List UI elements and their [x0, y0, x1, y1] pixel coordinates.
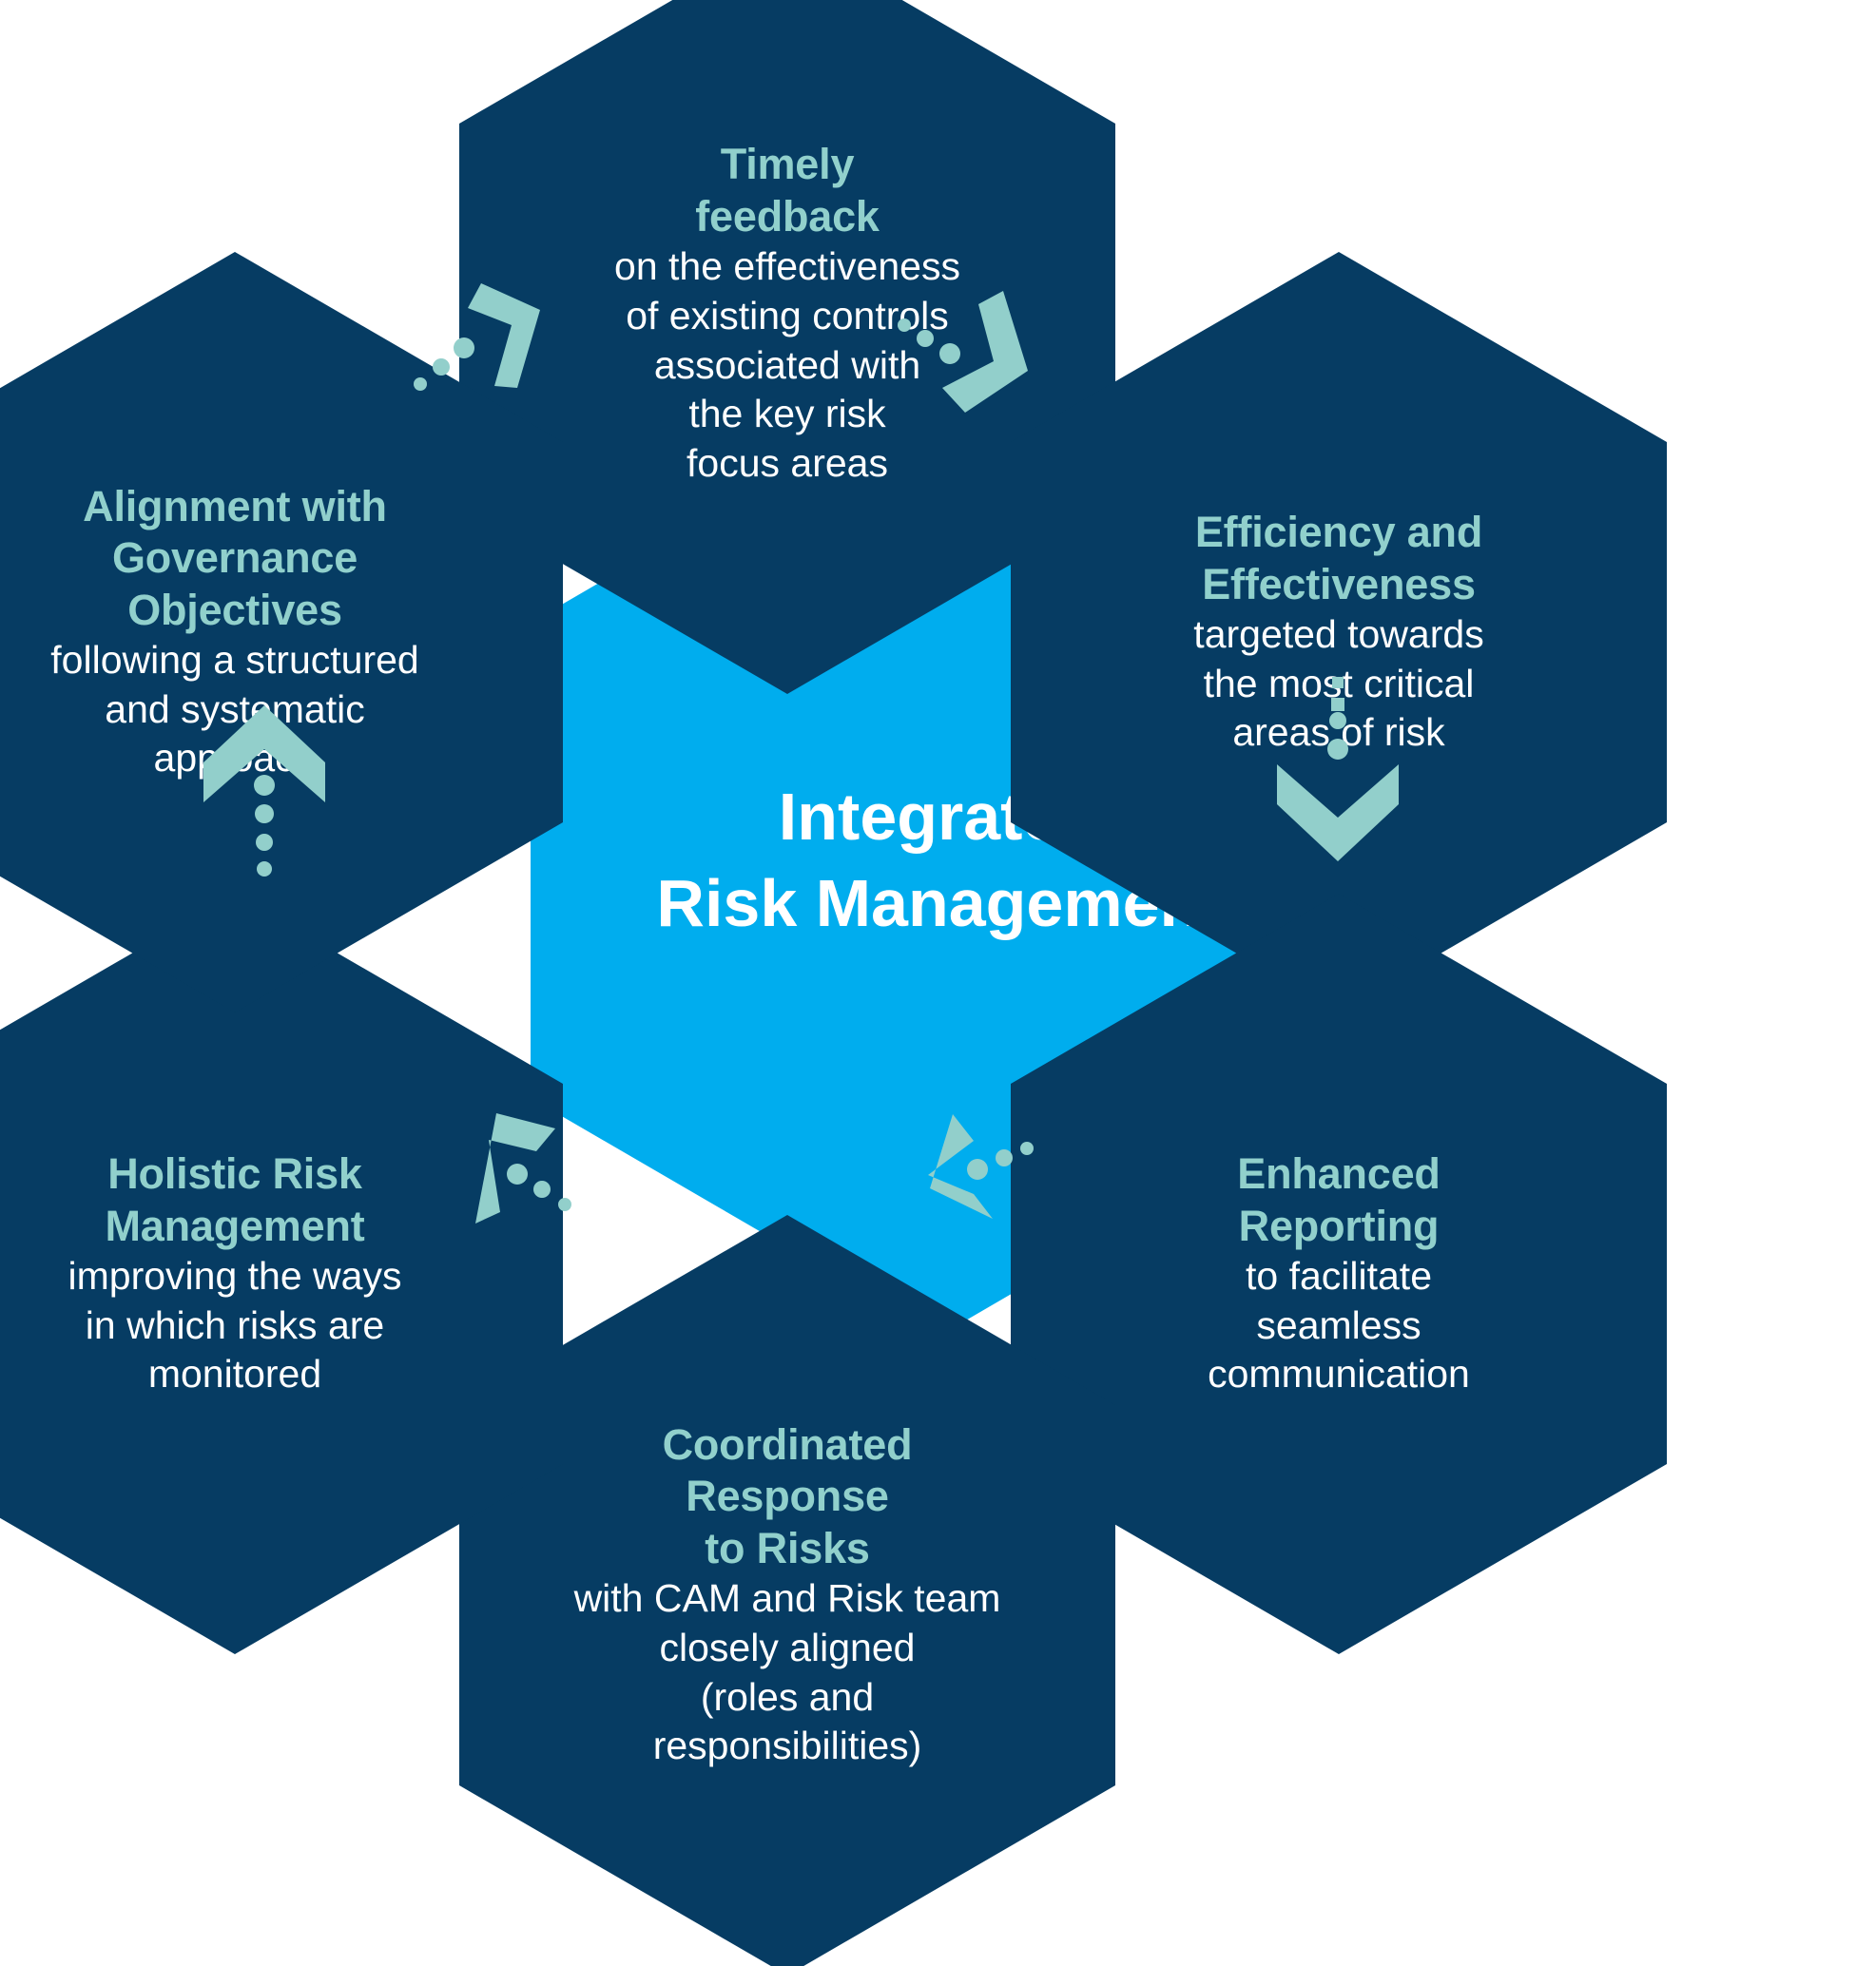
hexagon-alignment-with-governance-objectives-title: Alignment with Governance Objectives: [0, 481, 491, 636]
hexagon-cycle-diagram: Integrated Risk Management Timely feedba…: [0, 0, 1876, 1966]
hexagon-timely-feedback-content: Timely feedback on the effectiveness of …: [528, 139, 1047, 488]
hexagon-alignment-with-governance-objectives-body: following a structured and systematic ap…: [0, 636, 491, 783]
hexagon-coordinated-response-to-risks-title: Coordinated Response to Risks: [532, 1419, 1043, 1574]
hexagon-alignment-with-governance-objectives-content: Alignment with Governance Objectives fol…: [0, 481, 494, 783]
hexagon-efficiency-and-effectiveness-title: Efficiency and Effectiveness: [1083, 507, 1595, 610]
hexagon-timely-feedback-title: Timely feedback: [532, 139, 1043, 242]
hexagon-coordinated-response-to-risks-body: with CAM and Risk team closely aligned (…: [532, 1574, 1043, 1771]
hexagon-holistic-risk-management-title: Holistic Risk Management: [0, 1148, 491, 1252]
hexagon-holistic-risk-management-content: Holistic Risk Management improving the w…: [0, 1148, 494, 1399]
hexagon-coordinated-response-to-risks-content: Coordinated Response to Risks with CAM a…: [528, 1419, 1047, 1771]
hexagon-holistic-risk-management-body: improving the ways in which risks are mo…: [0, 1252, 491, 1399]
hexagon-enhanced-reporting-body: to facilitate seamless communication: [1083, 1252, 1595, 1399]
hexagon-efficiency-and-effectiveness-body: targeted towards the most critical areas…: [1083, 610, 1595, 758]
hexagon-timely-feedback-body: on the effectiveness of existing control…: [532, 242, 1043, 488]
hexagon-enhanced-reporting-content: Enhanced Reporting to facilitate seamles…: [1079, 1148, 1598, 1399]
hexagon-enhanced-reporting-title: Enhanced Reporting: [1083, 1148, 1595, 1252]
hexagon-efficiency-and-effectiveness-content: Efficiency and Effectiveness targeted to…: [1079, 507, 1598, 758]
